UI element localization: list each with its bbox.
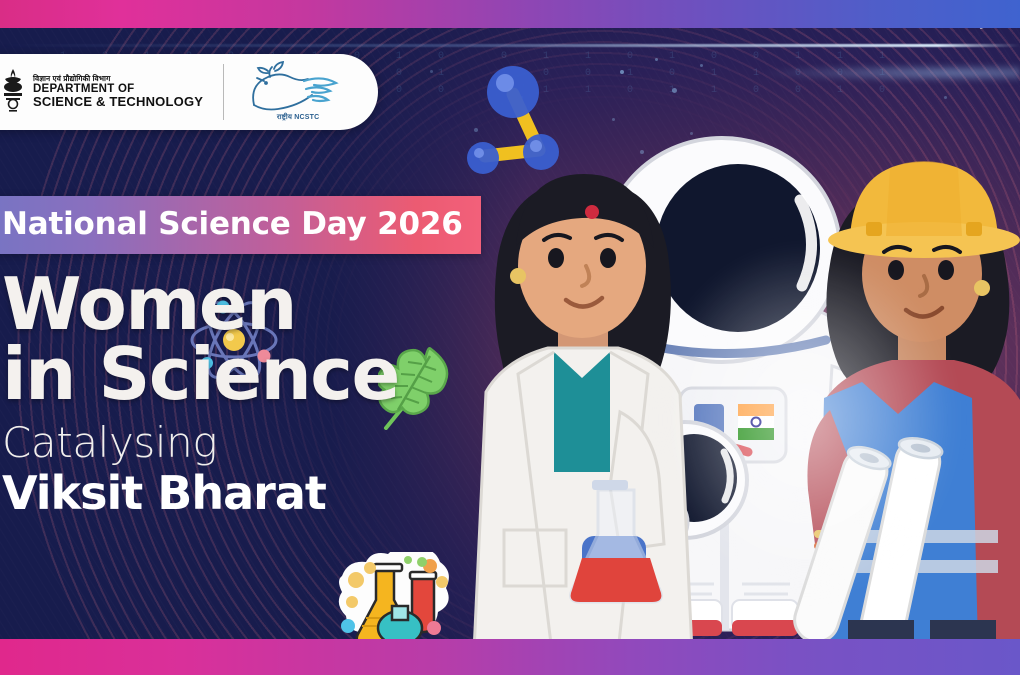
dst-hindi-label: विज्ञान एवं प्रौद्योगिकी विभाग xyxy=(33,75,203,83)
vertical-divider xyxy=(223,64,224,120)
ncstc-caption: राष्ट्रीय NCSTC xyxy=(244,113,352,122)
molecule-icon xyxy=(455,52,573,180)
chemistry-flasks-icon xyxy=(334,552,456,652)
dst-logo: विज्ञान एवं प्रौद्योगिकी विभाग DEPARTMEN… xyxy=(0,67,203,117)
dst-line-2: SCIENCE & TECHNOLOGY xyxy=(33,95,203,109)
light-beam-icon xyxy=(0,44,1020,47)
india-state-emblem-icon xyxy=(0,67,26,117)
top-gradient-strip xyxy=(0,0,1020,28)
bottom-gradient-strip xyxy=(0,639,1020,675)
dove-olive-branch-icon xyxy=(244,59,352,117)
headline-block: National Science Day 2026 Women in Scien… xyxy=(0,196,500,518)
figure-glow xyxy=(590,170,1020,670)
badge-label: National Science Day 2026 xyxy=(2,206,463,242)
national-science-day-badge: National Science Day 2026 xyxy=(0,196,481,254)
subtitle-line-2: Viksit Bharat xyxy=(2,468,500,519)
subtitle-line-1: Catalysing xyxy=(2,422,500,464)
dst-text-block: विज्ञान एवं प्रौद्योगिकी विभाग DEPARTMEN… xyxy=(33,75,203,109)
national-science-day-poster: 1 0 1 0 0 1 1 0 1 0 0 1 1 0 1 0 0 1 1 1 … xyxy=(0,0,1020,675)
page-title: Women in Science xyxy=(2,270,500,410)
headline-line-2: in Science xyxy=(2,340,500,410)
logo-bar: विज्ञान एवं प्रौद्योगिकी विभाग DEPARTMEN… xyxy=(0,54,378,130)
ncstc-logo: राष्ट्रीय NCSTC xyxy=(244,59,352,125)
headline-line-1: Women xyxy=(2,270,500,340)
